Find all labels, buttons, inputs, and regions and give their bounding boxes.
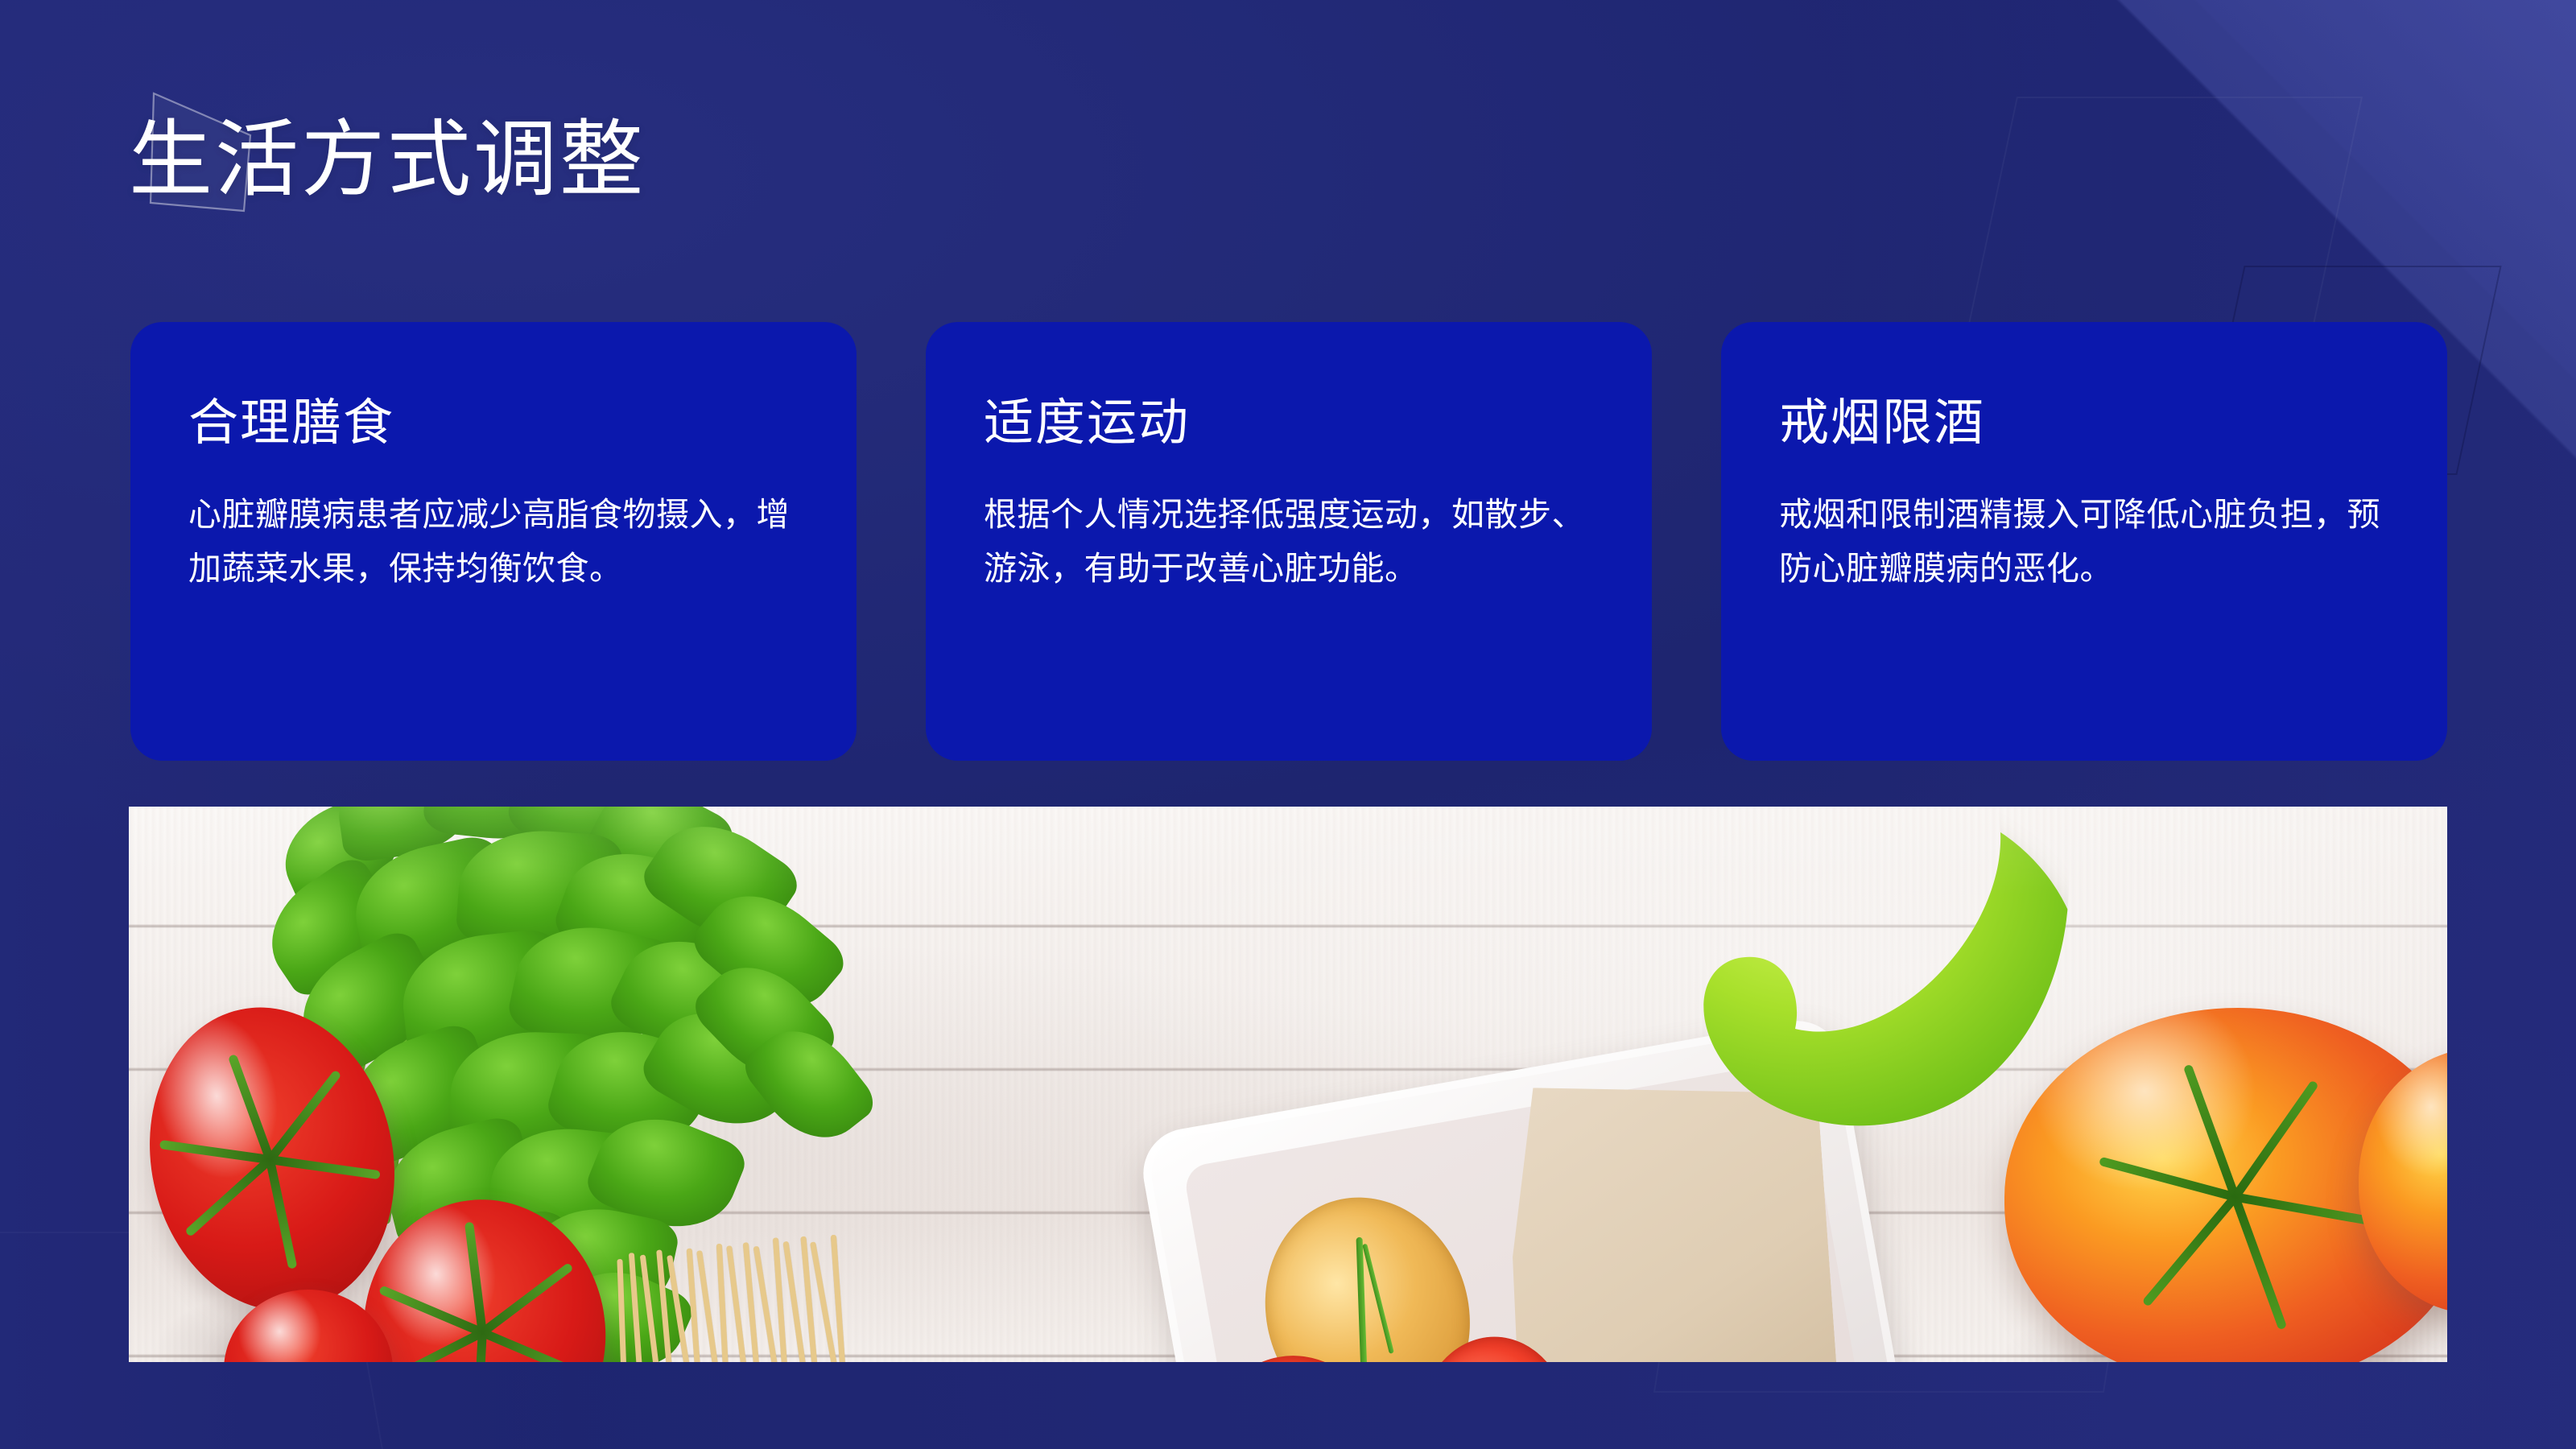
title-block: 生活方式调整 (129, 80, 1095, 242)
card-title: 合理膳食 (188, 396, 799, 451)
photo-content (129, 807, 2447, 1362)
card-body: 心脏瓣膜病患者应减少高脂食物摄入，增加蔬菜水果，保持均衡饮食。 (188, 488, 799, 595)
cards-row: 合理膳食 心脏瓣膜病患者应减少高脂食物摄入，增加蔬菜水果，保持均衡饮食。 适度运… (130, 322, 2447, 761)
tomato-calyx (349, 1186, 621, 1362)
slide-canvas: 生活方式调整 合理膳食 心脏瓣膜病患者应减少高脂食物摄入，增加蔬菜水果，保持均衡… (0, 0, 2576, 1449)
card-body: 戒烟和限制酒精摄入可降低心脏负担，预防心脏瓣膜病的恶化。 (1779, 488, 2389, 595)
card-quit-smoking-limit-alcohol[interactable]: 戒烟限酒 戒烟和限制酒精摄入可降低心脏负担，预防心脏瓣膜病的恶化。 (1721, 322, 2447, 761)
card-moderate-exercise[interactable]: 适度运动 根据个人情况选择低强度运动，如散步、游泳，有助于改善心脏功能。 (926, 322, 1652, 761)
vegetables-photo (129, 807, 2447, 1362)
card-title: 适度运动 (984, 396, 1594, 451)
card-healthy-diet[interactable]: 合理膳食 心脏瓣膜病患者应减少高脂食物摄入，增加蔬菜水果，保持均衡饮食。 (130, 322, 857, 761)
card-body: 根据个人情况选择低强度运动，如散步、游泳，有助于改善心脏功能。 (984, 488, 1594, 595)
page-title: 生活方式调整 (129, 116, 646, 204)
tomato (349, 1186, 621, 1362)
card-title: 戒烟限酒 (1779, 396, 2389, 451)
